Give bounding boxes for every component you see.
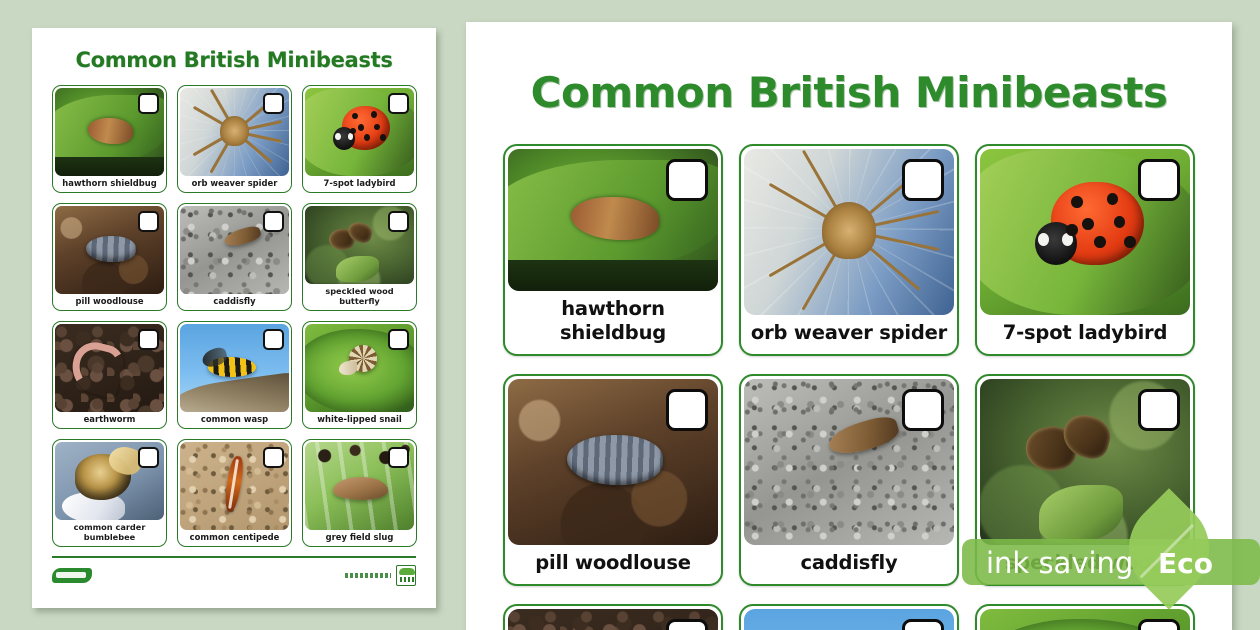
ladybird-spots — [1056, 186, 1144, 262]
empty-checkbox-icon[interactable] — [902, 619, 944, 630]
sheet-footer — [52, 556, 416, 586]
empty-checkbox-icon[interactable] — [1138, 159, 1180, 201]
card-photo — [180, 206, 289, 294]
minibeast-card[interactable]: common wasp — [739, 604, 959, 630]
ladybird-spots — [344, 107, 390, 147]
preview-page-title: Common British Minibeasts — [466, 68, 1232, 117]
minibeast-card[interactable]: grey field slug — [302, 439, 417, 547]
card-photo — [55, 442, 164, 520]
card-photo — [305, 88, 414, 176]
empty-checkbox-icon[interactable] — [263, 93, 284, 114]
slug-body — [333, 477, 388, 500]
card-label: common wasp — [180, 412, 289, 426]
bumblebee-body — [75, 454, 132, 499]
empty-checkbox-icon[interactable] — [263, 211, 284, 232]
empty-checkbox-icon[interactable] — [263, 329, 284, 350]
minibeast-card[interactable]: caddisfly — [739, 374, 959, 586]
empty-checkbox-icon[interactable] — [388, 329, 409, 350]
card-photo — [744, 609, 954, 630]
plant-leaf — [336, 256, 380, 283]
card-label: pill woodlouse — [508, 545, 718, 581]
card-label: pill woodlouse — [55, 294, 164, 308]
card-label: common centipede — [180, 530, 289, 544]
footer-right-group — [345, 565, 416, 586]
card-photo — [305, 442, 414, 530]
card-photo — [508, 379, 718, 545]
card-photo — [55, 324, 164, 412]
twinkl-logo-icon — [52, 568, 92, 583]
card-label: 7-spot ladybird — [980, 315, 1190, 351]
card-label: speckled wood butterfly — [305, 284, 414, 308]
minibeast-card[interactable]: common carder bumblebee — [52, 439, 167, 547]
earthworm-body — [67, 338, 128, 400]
minibeast-card[interactable]: hawthorn shieldbug — [52, 85, 167, 193]
photo-shadow — [508, 260, 718, 291]
empty-checkbox-icon[interactable] — [138, 93, 159, 114]
thumbnail-preview-sheet[interactable]: Common British Minibeasts hawthorn shiel… — [32, 28, 436, 608]
card-label: earthworm — [55, 412, 164, 426]
thumbnail-card-grid: hawthorn shieldbugorb weaver spider7-spo… — [52, 85, 416, 547]
card-label: white-lipped snail — [305, 412, 414, 426]
card-label: grey field slug — [305, 530, 414, 544]
eco-badge-icon — [396, 565, 416, 586]
minibeast-card[interactable]: 7-spot ladybird — [302, 85, 417, 193]
empty-checkbox-icon[interactable] — [1138, 389, 1180, 431]
minibeast-card[interactable]: common wasp — [177, 321, 292, 429]
minibeast-card[interactable]: orb weaver spider — [739, 144, 959, 356]
empty-checkbox-icon[interactable] — [138, 447, 159, 468]
card-label: caddisfly — [744, 545, 954, 581]
screenshot-stage: Common British Minibeasts hawthorn shiel… — [0, 0, 1260, 630]
card-photo — [980, 149, 1190, 315]
card-photo — [55, 206, 164, 294]
card-photo — [180, 442, 289, 530]
website-url-icon — [345, 573, 391, 578]
minibeast-card[interactable]: pill woodlouse — [503, 374, 723, 586]
minibeast-card[interactable]: pill woodlouse — [52, 203, 167, 311]
card-photo — [508, 609, 718, 630]
card-photo — [980, 609, 1190, 630]
eco-badge-right-label: Eco — [1158, 547, 1213, 580]
minibeast-card[interactable]: 7-spot ladybird — [975, 144, 1195, 356]
card-photo — [744, 149, 954, 315]
card-photo — [305, 324, 414, 412]
photo-shadow — [55, 157, 164, 176]
empty-checkbox-icon[interactable] — [138, 329, 159, 350]
minibeast-card[interactable]: white-lipped snail — [302, 321, 417, 429]
card-label: hawthorn shieldbug — [508, 291, 718, 351]
empty-checkbox-icon[interactable] — [666, 159, 708, 201]
empty-checkbox-icon[interactable] — [388, 93, 409, 114]
empty-checkbox-icon[interactable] — [263, 447, 284, 468]
card-label: common carder bumblebee — [55, 520, 164, 544]
centipede-body — [223, 455, 246, 513]
butterfly-wings — [329, 223, 373, 254]
empty-checkbox-icon[interactable] — [666, 389, 708, 431]
minibeast-card[interactable]: orb weaver spider — [177, 85, 292, 193]
card-photo — [744, 379, 954, 545]
thumbnail-page-title: Common British Minibeasts — [32, 48, 436, 72]
empty-checkbox-icon[interactable] — [902, 159, 944, 201]
minibeast-card[interactable]: earthworm — [52, 321, 167, 429]
minibeast-card[interactable]: earthworm — [503, 604, 723, 630]
card-label: hawthorn shieldbug — [55, 176, 164, 190]
card-photo — [305, 206, 414, 284]
card-photo — [180, 88, 289, 176]
empty-checkbox-icon[interactable] — [388, 211, 409, 232]
card-photo — [180, 324, 289, 412]
empty-checkbox-icon[interactable] — [1138, 619, 1180, 630]
empty-checkbox-icon[interactable] — [666, 619, 708, 630]
eco-badge-left-label: ink saving — [986, 546, 1133, 580]
minibeast-card[interactable]: common centipede — [177, 439, 292, 547]
minibeast-card[interactable]: speckled wood butterfly — [302, 203, 417, 311]
ink-saving-eco-badge[interactable]: ink saving Eco — [962, 533, 1260, 589]
minibeast-card[interactable]: white-lipped snail — [975, 604, 1195, 630]
card-photo — [508, 149, 718, 291]
minibeast-card[interactable]: hawthorn shieldbug — [503, 144, 723, 356]
card-label: orb weaver spider — [744, 315, 954, 351]
empty-checkbox-icon[interactable] — [388, 447, 409, 468]
empty-checkbox-icon[interactable] — [902, 389, 944, 431]
card-label: orb weaver spider — [180, 176, 289, 190]
butterfly-wings — [1026, 416, 1110, 482]
card-label: 7-spot ladybird — [305, 176, 414, 190]
wasp-body — [208, 357, 256, 376]
minibeast-card[interactable]: caddisfly — [177, 203, 292, 311]
empty-checkbox-icon[interactable] — [138, 211, 159, 232]
card-photo — [55, 88, 164, 176]
card-label: caddisfly — [180, 294, 289, 308]
snail-shell — [349, 345, 377, 371]
